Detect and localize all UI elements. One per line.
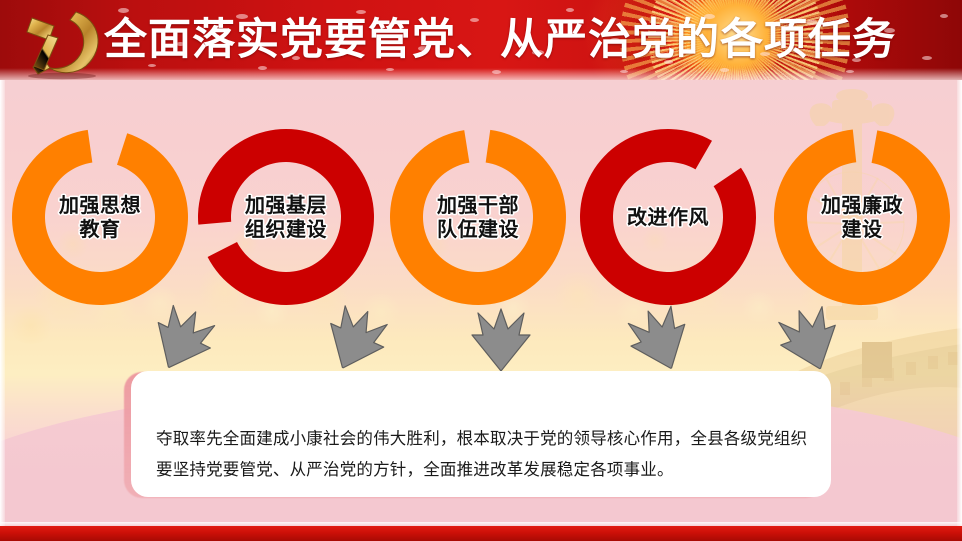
left-edge-highlight	[0, 80, 5, 526]
footer-bar	[0, 526, 962, 541]
donut-ring-2[interactable]: 加强基层组织建设	[194, 125, 378, 309]
slide-root: 全面落实党要管党、从严治党的各项任务	[0, 0, 962, 541]
panel-paragraph: 夺取率先全面建成小康社会的伟大胜利，根本取决于党的领导核心作用，全县各级党组织要…	[156, 423, 808, 485]
right-edge-highlight	[957, 80, 962, 526]
donut-ring-arc	[8, 125, 192, 309]
donut-ring-arc	[576, 125, 760, 309]
page-title: 全面落实党要管党、从严治党的各项任务	[104, 12, 904, 70]
header-banner: 全面落实党要管党、从严治党的各项任务	[0, 0, 962, 80]
down-arrow-icon	[470, 305, 532, 371]
donut-ring-arc	[194, 125, 378, 309]
donut-ring-1[interactable]: 加强思想教育	[8, 125, 192, 309]
donut-ring-arc	[386, 125, 570, 309]
flow-arrow-3	[470, 305, 532, 371]
donut-ring-5[interactable]: 加强廉政建设	[770, 125, 954, 309]
donut-ring-4[interactable]: 改进作风	[576, 125, 760, 309]
donut-ring-arc	[770, 125, 954, 309]
donut-ring-3[interactable]: 加强干部队伍建设	[386, 125, 570, 309]
